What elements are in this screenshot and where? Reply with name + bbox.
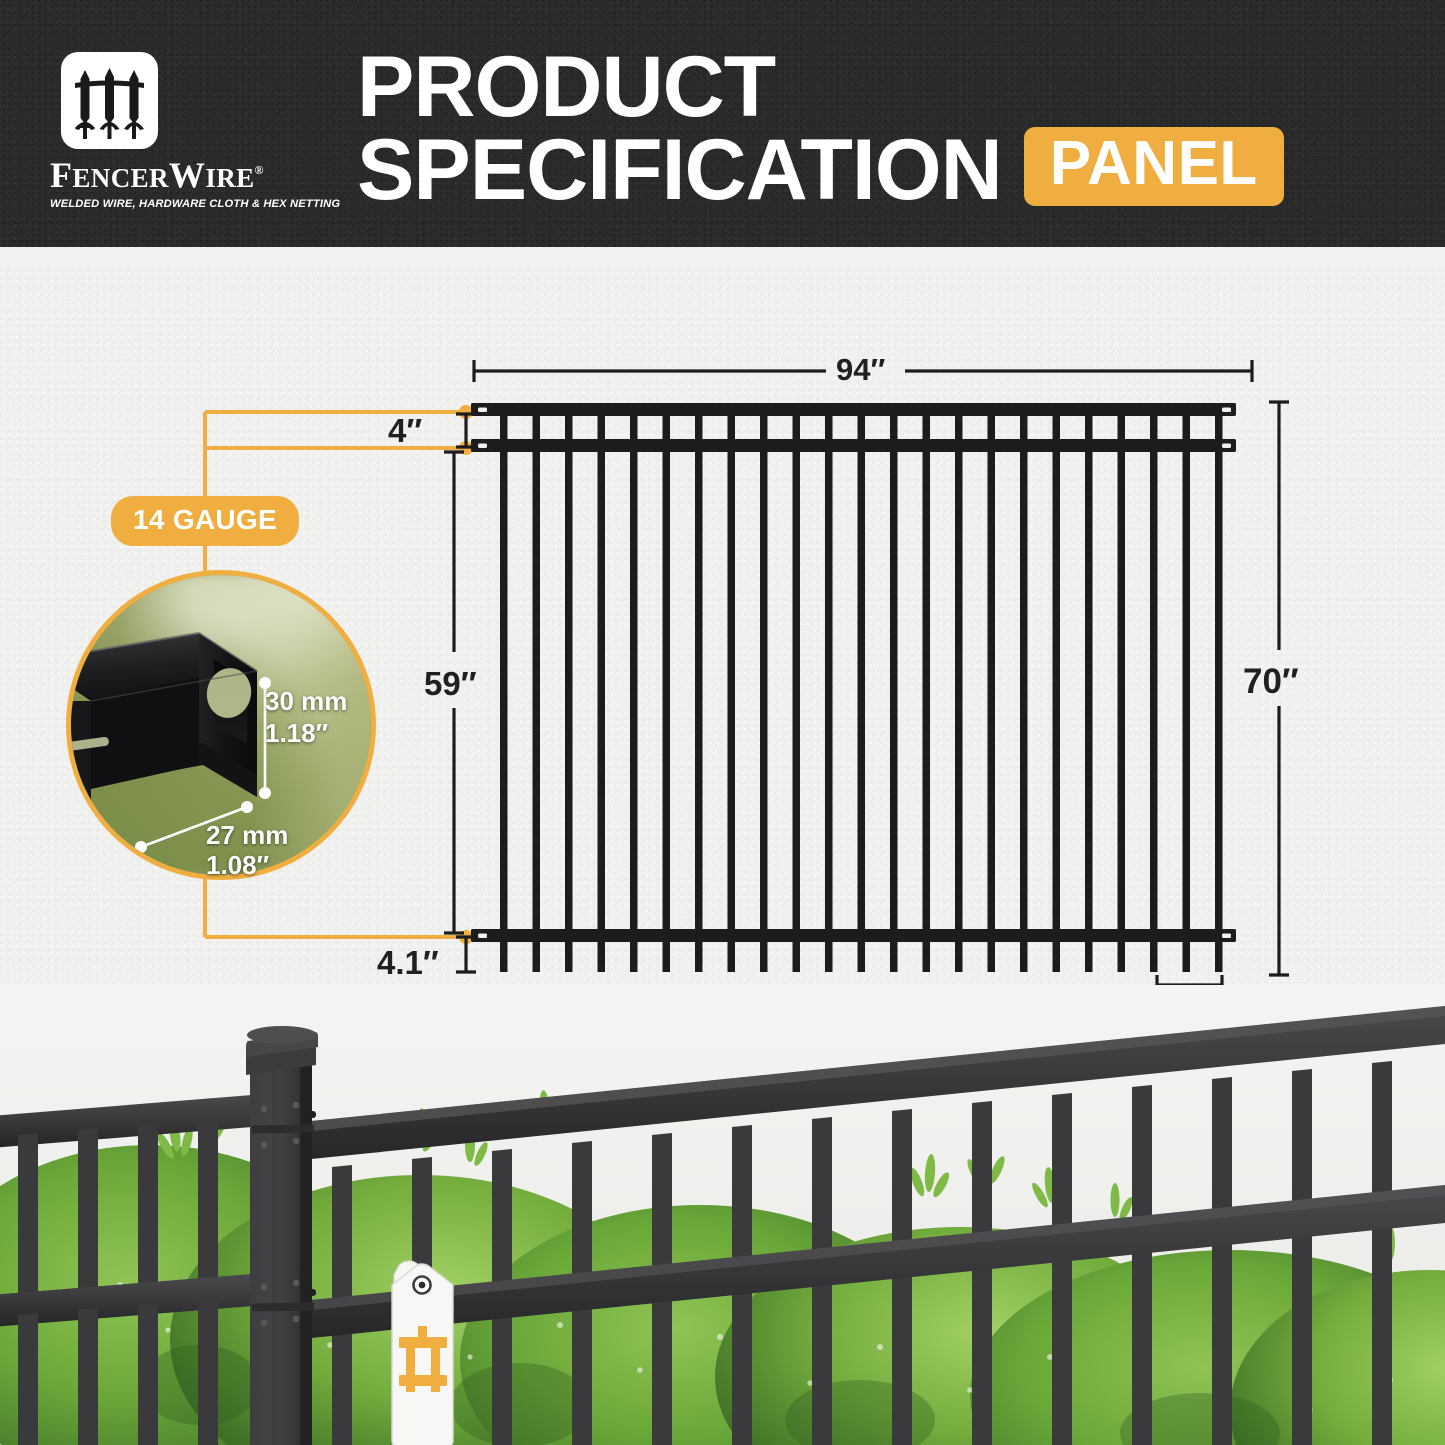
dimension-rail-gap-label: 4″ [388,412,422,450]
brand-f: F [50,155,72,195]
header-banner: FENCERWIRE® WELDED WIRE, HARDWARE CLOTH … [0,0,1445,268]
product-photo: black steel fence panel with post cap in… [0,985,1445,1445]
brand-logo: FENCERWIRE® WELDED WIRE, HARDWARE CLOTH … [48,52,328,210]
brand-wordmark: FENCERWIRE® [50,157,330,195]
brand-tagline: WELDED WIRE, HARDWARE CLOTH & HEX NETTIN… [50,198,330,210]
title-line-1: PRODUCT [357,48,1397,127]
rail-height-mm: 30 mm [265,686,347,717]
gauge-badge: 14 GAUGE [111,496,299,546]
panel-badge: PANEL [1024,127,1284,206]
rail-width-mm: 27 mm [206,820,288,851]
brand-w: W [169,155,205,195]
rail-height-in: 1.18″ [265,718,328,749]
brand-ire: IRE [205,163,254,193]
dimension-total-height-label: 70″ [1243,662,1299,702]
page-title: PRODUCT SPECIFICATION PANEL [357,48,1397,210]
fence-posts-icon [61,52,158,149]
rail-width-in: 1.08″ [206,850,269,881]
dimension-width-label: 94″ [836,352,885,388]
brand-encer: ENCER [72,163,169,193]
registered-mark: ® [255,163,264,177]
title-line-2: SPECIFICATION [357,131,1002,210]
dimension-picket-height-label: 59″ [424,665,477,703]
scalloped-divider [0,219,1445,268]
dimension-overhang-label: 4.1″ [377,944,439,982]
